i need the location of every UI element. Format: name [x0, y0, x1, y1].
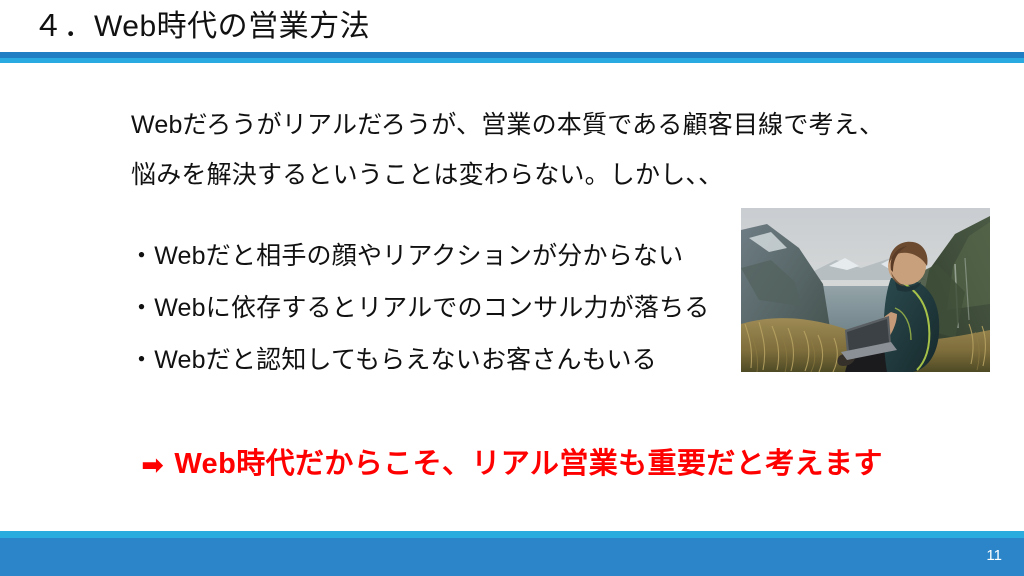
list-item: ・Webだと相手の顔やリアクションが分からない — [129, 230, 729, 282]
footer-accent-strip — [0, 531, 1024, 538]
list-item: ・Webに依存するとリアルでのコンサル力が落ちる — [129, 282, 729, 334]
footer-band — [0, 538, 1024, 576]
list-item: ・Webだと認知してもらえないお客さんもいる — [129, 334, 729, 386]
lead-line-1: Webだろうがリアルだろうが、営業の本質である顧客目線で考え、 — [131, 100, 921, 150]
slide: ４．Web時代の営業方法 Webだろうがリアルだろうが、営業の本質である顧客目線… — [0, 0, 1024, 576]
arrow-right-icon: ➡ — [141, 442, 164, 488]
lead-line-2: 悩みを解決するということは変わらない。しかし、、 — [131, 150, 921, 200]
page-title: ４．Web時代の営業方法 — [33, 6, 370, 48]
photo-man-with-laptop — [741, 208, 990, 372]
conclusion-text: Web時代だからこそ、リアル営業も重要だと考えます — [174, 448, 882, 480]
footer-bar: 11 — [0, 531, 1024, 576]
point-list: ・Webだと相手の顔やリアクションが分からない ・Webに依存するとリアルでのコ… — [129, 230, 729, 386]
page-number: 11 — [986, 547, 1002, 565]
title-divider-light — [0, 58, 1024, 63]
title-divider — [0, 52, 1024, 63]
conclusion-statement: ➡Web時代だからこそ、リアル営業も重要だと考えます — [0, 441, 1024, 488]
lead-paragraph: Webだろうがリアルだろうが、営業の本質である顧客目線で考え、 悩みを解決すると… — [131, 100, 921, 200]
